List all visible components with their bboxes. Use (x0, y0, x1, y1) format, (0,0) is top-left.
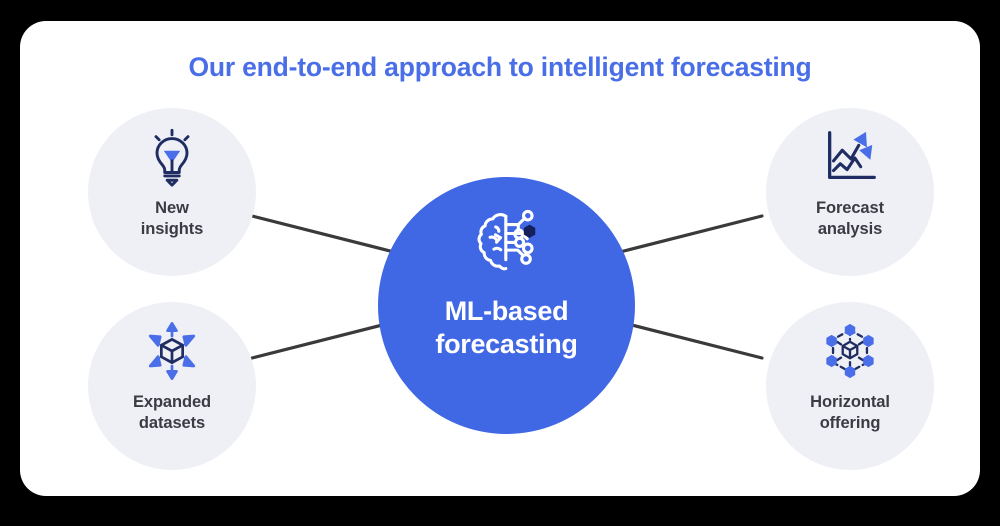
node-forecast-analysis[interactable]: Forecast analysis (766, 108, 934, 276)
hex-node-top-right (863, 335, 873, 347)
connector-forecast-analysis (620, 216, 762, 252)
hub-label: ML-based forecasting (435, 295, 577, 361)
node-label-forecast-analysis: Forecast analysis (816, 198, 884, 240)
connector-new-insights (252, 216, 394, 252)
node-label-line2: datasets (133, 413, 211, 434)
node-expanded-datasets[interactable]: Expanded datasets (88, 302, 256, 470)
node-label-line1: Forecast (816, 198, 884, 219)
node-label-line1: Expanded (133, 392, 211, 413)
hex-node-top (845, 324, 855, 336)
hub-node-ml-based-forecasting[interactable]: ML-based forecasting (378, 177, 635, 434)
hub-label-line1: ML-based (435, 295, 577, 328)
node-new-insights[interactable]: New insights (88, 108, 256, 276)
hexagon-network-icon (819, 320, 881, 382)
hub-label-line2: forecasting (435, 328, 577, 361)
node-horizontal-offering[interactable]: Horizontal offering (766, 302, 934, 470)
hex-node-bottom-left (826, 355, 836, 367)
rising-chart-arrows-icon (819, 126, 881, 188)
node-label-line2: analysis (816, 219, 884, 240)
node-label-horizontal-offering: Horizontal offering (810, 392, 890, 434)
hex-node-bottom (845, 366, 855, 378)
node-label-line1: New (141, 198, 203, 219)
expanding-cube-arrows-icon (141, 320, 203, 382)
node-label-line2: offering (810, 413, 890, 434)
connector-horizontal-offering (620, 322, 762, 358)
node-label-line1: Horizontal (810, 392, 890, 413)
hex-node-top-left (826, 335, 836, 347)
arrowhead-lower (859, 145, 872, 160)
ai-brain-circuit-icon (469, 205, 545, 281)
hex-node-bottom-right (863, 355, 873, 367)
node-label-line2: insights (141, 219, 203, 240)
connector-expanded-datasets (252, 322, 394, 358)
lightbulb-icon (141, 126, 203, 188)
node-label-new-insights: New insights (141, 198, 203, 240)
diagram-canvas: Our end-to-end approach to intelligent f… (0, 0, 1000, 526)
node-label-expanded-datasets: Expanded datasets (133, 392, 211, 434)
